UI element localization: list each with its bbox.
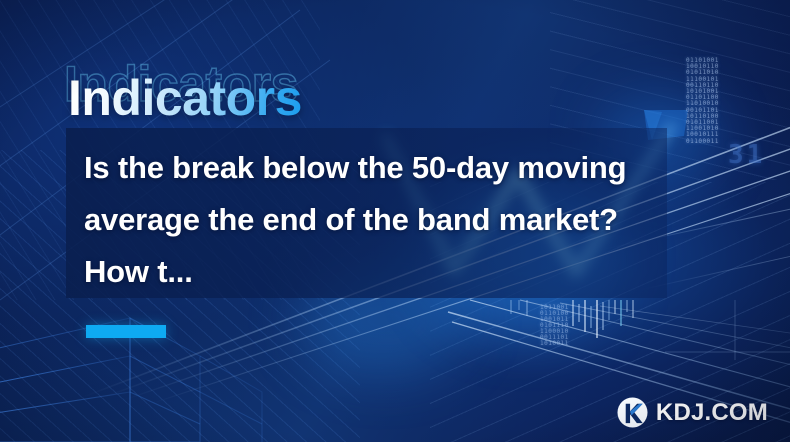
vignette-overlay	[0, 0, 790, 442]
article-cover-card: 01101001 10010110 01011010 11100101 0011…	[0, 0, 790, 442]
